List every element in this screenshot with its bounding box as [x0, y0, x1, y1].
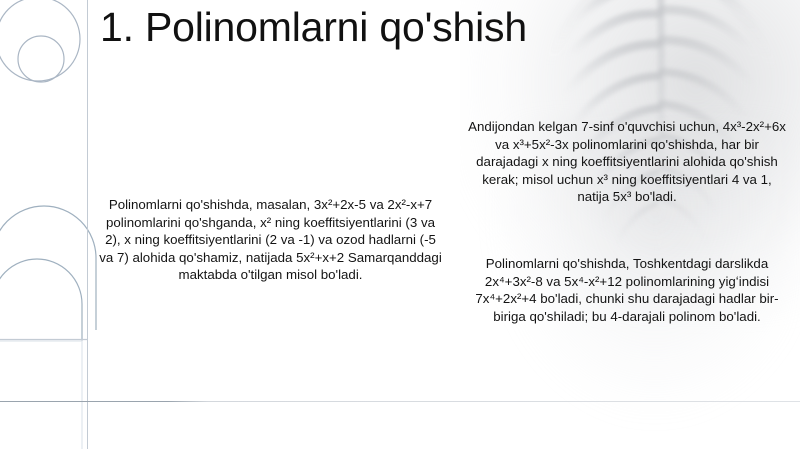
page-title: 1. Polinomlarni qo'shish: [100, 4, 760, 52]
large-circle-icon: [0, 0, 80, 81]
feather-watermark: [460, 0, 800, 449]
horizontal-divider: [0, 401, 800, 402]
text-block-left: Polinomlarni qo'shishda, masalan, 3x²+2x…: [98, 196, 443, 284]
small-circle-icon: [18, 36, 64, 82]
slide-canvas: 1. Polinomlarni qo'shish Polinomlarni qo…: [0, 0, 800, 449]
vertical-divider: [87, 0, 88, 449]
text-block-right-top: Andijondan kelgan 7-sinf o'quvchisi uchu…: [468, 118, 786, 206]
upper-arch-icon: [0, 206, 96, 330]
lower-arch-icon: [0, 259, 82, 341]
column-outline: [0, 341, 82, 449]
text-block-right-bottom: Polinomlarni qo'shishda, Toshkentdagi da…: [468, 255, 786, 325]
